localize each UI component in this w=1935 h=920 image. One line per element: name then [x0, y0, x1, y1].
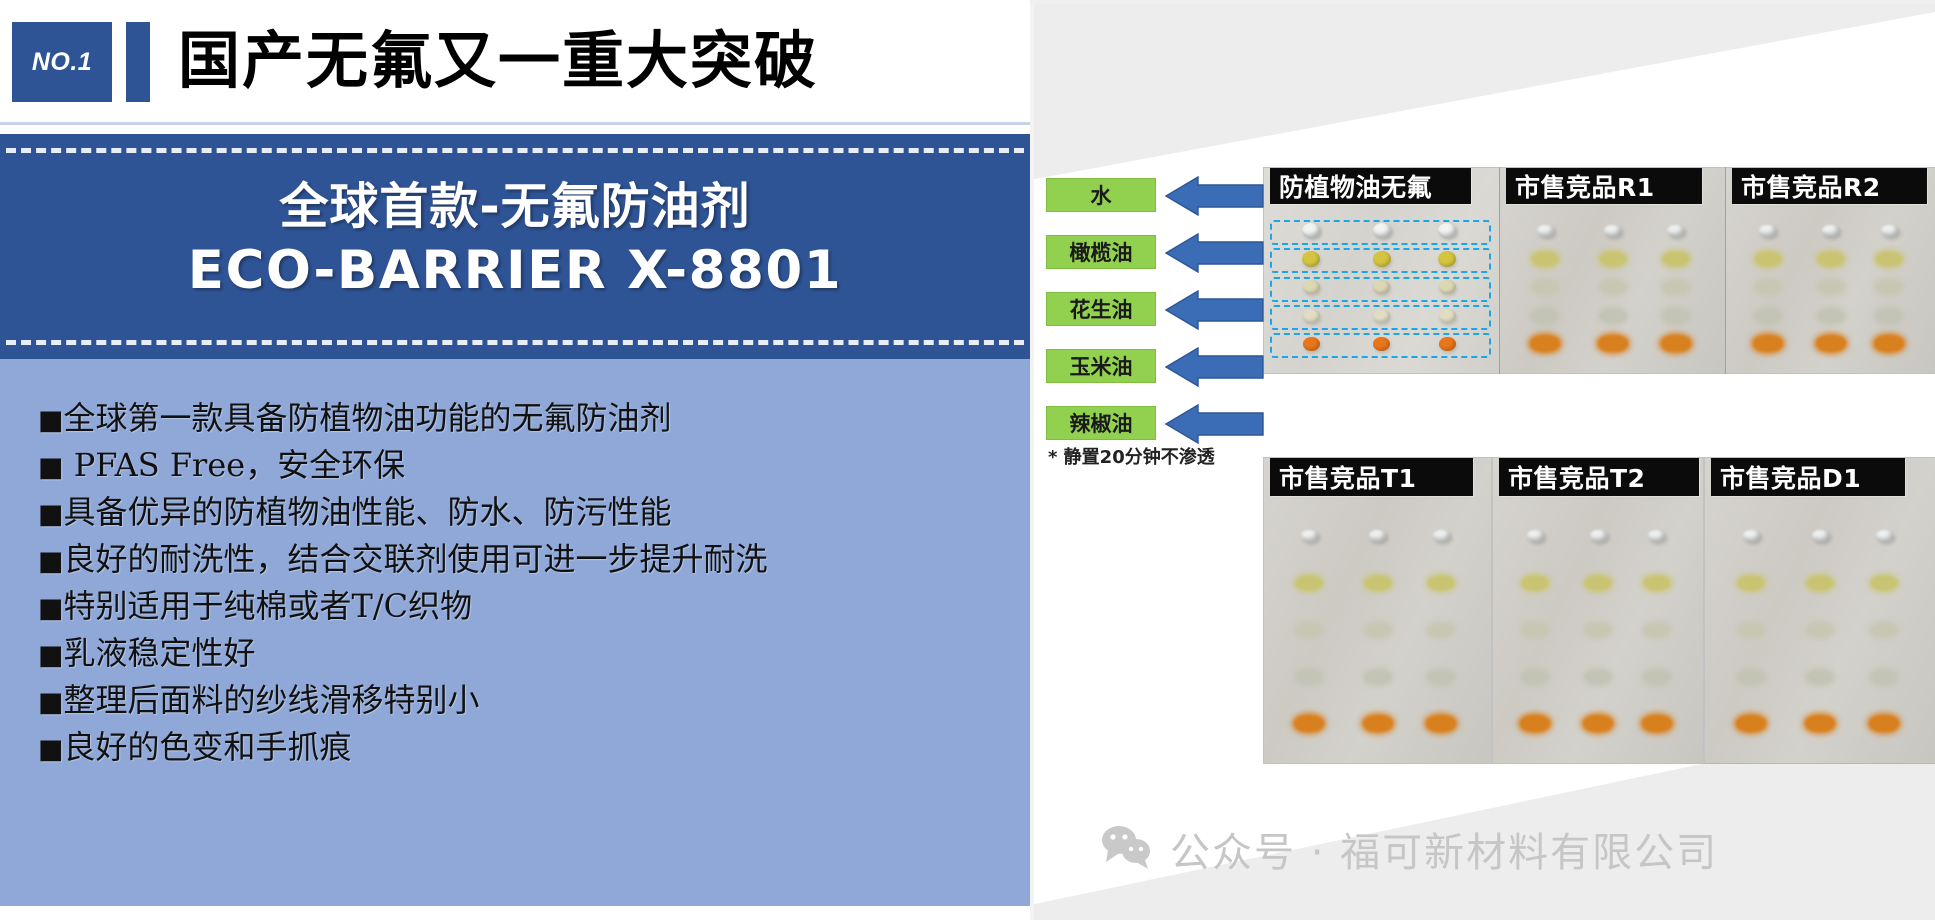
test-droplet — [1428, 670, 1454, 684]
test-droplet — [1373, 337, 1390, 351]
test-droplet — [1296, 623, 1322, 637]
test-droplet — [1807, 576, 1833, 590]
feature-bullet: ■具备优异的防植物油性能、防水、防污性能 — [38, 490, 998, 537]
test-droplet — [1818, 280, 1844, 294]
test-droplet — [1585, 670, 1611, 684]
test-droplet — [1876, 309, 1902, 323]
test-droplet — [1738, 576, 1764, 590]
test-droplet — [1426, 715, 1456, 732]
sample-photo-panel: 市售竞品R2 — [1726, 168, 1935, 373]
test-droplet — [1642, 715, 1672, 732]
test-droplet — [1663, 252, 1689, 266]
feature-bullet: ■ PFAS Free，安全环保 — [38, 443, 998, 490]
bullet-marker-icon: ■ — [38, 593, 64, 624]
test-droplet — [1755, 309, 1781, 323]
test-droplet — [1439, 309, 1456, 323]
feature-bullet-label: 良好的色变和手抓痕 — [64, 728, 352, 766]
test-droplet — [1816, 335, 1846, 352]
feature-bullet-label: PFAS Free，安全环保 — [64, 446, 406, 484]
test-droplet — [1644, 576, 1670, 590]
feature-bullet-label: 整理后面料的纱线滑移特别小 — [64, 681, 480, 719]
test-droplet — [1663, 280, 1689, 294]
wechat-icon — [1100, 824, 1154, 875]
feature-bullet: ■特别适用于纯棉或者T/C织物 — [38, 584, 998, 631]
test-droplet — [1818, 309, 1844, 323]
test-droplet — [1590, 530, 1607, 542]
test-droplet — [1294, 715, 1324, 732]
test-droplet — [1876, 530, 1893, 542]
test-liquid-row: 水 — [1046, 178, 1261, 235]
banner-dashed-top — [6, 148, 1024, 153]
test-droplet — [1520, 715, 1550, 732]
test-droplet — [1667, 225, 1684, 237]
test-droplet — [1869, 715, 1899, 732]
test-droplet — [1303, 309, 1320, 323]
header-accent-bar — [126, 22, 150, 102]
test-droplet — [1648, 530, 1665, 542]
test-liquid-row: 橄榄油 — [1046, 235, 1261, 292]
test-droplet — [1365, 670, 1391, 684]
test-droplet — [1428, 576, 1454, 590]
test-footnote: * 静置20分钟不渗透 — [1048, 443, 1215, 469]
feature-bullet-label: 具备优异的防植物油性能、防水、防污性能 — [64, 493, 672, 531]
slide-root: NO.1 国产无氟又一重大突破 全球首款-无氟防油剂 ECO-BARRIER X… — [0, 0, 1935, 920]
bullet-marker-icon: ■ — [38, 734, 64, 765]
left-arrow-icon — [1164, 404, 1264, 444]
test-droplet — [1644, 670, 1670, 684]
bullet-marker-icon: ■ — [38, 640, 64, 671]
test-droplet — [1600, 280, 1626, 294]
watermark: 公众号 · 福可新材料有限公司 — [1100, 820, 1718, 878]
left-arrow-icon — [1164, 347, 1264, 387]
test-droplet — [1537, 225, 1554, 237]
test-droplet — [1874, 335, 1904, 352]
bullet-marker-icon: ■ — [38, 546, 64, 577]
right-panel-left-edge — [1030, 0, 1034, 920]
test-droplet — [1585, 623, 1611, 637]
test-droplet — [1532, 252, 1558, 266]
test-droplet — [1522, 623, 1548, 637]
test-droplet — [1598, 335, 1628, 352]
feature-bullet-label: 良好的耐洗性，结合交联剂使用可进一步提升耐洗 — [64, 540, 768, 578]
sample-photo-panel: 市售竞品R1 — [1500, 168, 1725, 373]
feature-bullet-list: ■全球第一款具备防植物油功能的无氟防油剂■ PFAS Free，安全环保■具备优… — [38, 396, 998, 772]
test-droplet — [1755, 280, 1781, 294]
sample-photo-label: 市售竞品T2 — [1499, 458, 1699, 496]
sample-photo-panel: 市售竞品T2 — [1493, 458, 1703, 763]
banner-dashed-bottom — [6, 340, 1024, 345]
header-divider — [0, 122, 1030, 125]
test-droplet — [1663, 309, 1689, 323]
test-droplet — [1881, 225, 1898, 237]
test-droplet — [1373, 251, 1391, 267]
test-droplet — [1812, 530, 1829, 542]
watermark-text: 公众号 · 福可新材料有限公司 — [1170, 820, 1718, 878]
test-liquid-label: 橄榄油 — [1046, 235, 1156, 269]
test-droplet — [1600, 252, 1626, 266]
test-droplet — [1644, 623, 1670, 637]
test-droplet — [1303, 337, 1320, 351]
feature-bullet: ■良好的色变和手抓痕 — [38, 725, 998, 772]
test-droplet — [1365, 576, 1391, 590]
sample-photo-panel: 市售竞品D1 — [1705, 458, 1935, 763]
test-droplet — [1369, 530, 1386, 542]
test-droplet — [1583, 715, 1613, 732]
test-droplet — [1871, 576, 1897, 590]
test-droplet — [1736, 715, 1766, 732]
test-droplet — [1755, 252, 1781, 266]
test-liquid-label-column: 水橄榄油花生油玉米油辣椒油 — [1046, 178, 1261, 463]
test-droplet — [1532, 309, 1558, 323]
test-droplet — [1807, 623, 1833, 637]
slide-header: NO.1 国产无氟又一重大突破 — [0, 0, 1030, 124]
test-droplet — [1301, 530, 1318, 542]
test-droplet — [1365, 623, 1391, 637]
decorative-triangle-top — [1030, 0, 1935, 180]
left-column: NO.1 国产无氟又一重大突破 全球首款-无氟防油剂 ECO-BARRIER X… — [0, 0, 1030, 920]
test-droplet — [1296, 576, 1322, 590]
banner-text-group: 全球首款-无氟防油剂 ECO-BARRIER X-8801 — [0, 176, 1030, 304]
test-droplet — [1522, 670, 1548, 684]
test-droplet — [1433, 530, 1450, 542]
test-droplet — [1807, 670, 1833, 684]
feature-bullet: ■整理后面料的纱线滑移特别小 — [38, 678, 998, 725]
test-droplet — [1600, 309, 1626, 323]
test-droplet — [1743, 530, 1760, 542]
feature-bullet: ■良好的耐洗性，结合交联剂使用可进一步提升耐洗 — [38, 537, 998, 584]
test-droplet — [1759, 225, 1776, 237]
test-liquid-label: 水 — [1046, 178, 1156, 212]
test-droplet — [1753, 335, 1783, 352]
left-arrow-icon — [1164, 233, 1264, 273]
sample-photo-panel: 市售竞品T1 — [1264, 458, 1491, 763]
test-droplet — [1303, 280, 1320, 294]
test-droplet — [1661, 335, 1691, 352]
sample-photo-panel: 防植物油无氟 — [1264, 168, 1499, 373]
bullet-marker-icon: ■ — [38, 687, 64, 718]
test-droplet — [1738, 670, 1764, 684]
bullet-marker-icon: ■ — [38, 452, 64, 483]
banner-product-name: ECO-BARRIER X-8801 — [0, 238, 1030, 304]
test-droplet — [1585, 576, 1611, 590]
right-panel-top-edge — [1030, 0, 1935, 4]
test-droplet — [1373, 309, 1390, 323]
sample-photo-label: 市售竞品T1 — [1270, 458, 1473, 496]
test-droplet — [1822, 225, 1839, 237]
feature-bullet-label: 全球第一款具备防植物油功能的无氟防油剂 — [64, 399, 672, 437]
sample-photo-label: 市售竞品R2 — [1732, 168, 1927, 204]
test-liquid-row: 玉米油 — [1046, 349, 1261, 406]
test-droplet — [1532, 280, 1558, 294]
test-droplet — [1871, 670, 1897, 684]
page-title: 国产无氟又一重大突破 — [178, 18, 818, 104]
test-liquid-row: 花生油 — [1046, 292, 1261, 349]
feature-panel-bottom-rule — [0, 906, 1030, 913]
test-droplet — [1604, 225, 1621, 237]
test-droplet — [1876, 280, 1902, 294]
test-droplet — [1805, 715, 1835, 732]
number-badge: NO.1 — [12, 22, 112, 102]
test-droplet — [1363, 715, 1393, 732]
test-droplet — [1373, 223, 1391, 238]
sample-photo-label: 防植物油无氟 — [1270, 168, 1471, 204]
feature-bullet: ■乳液稳定性好 — [38, 631, 998, 678]
test-droplet — [1530, 335, 1560, 352]
banner-subtitle: 全球首款-无氟防油剂 — [0, 176, 1030, 238]
bullet-marker-icon: ■ — [38, 499, 64, 530]
test-liquid-label: 辣椒油 — [1046, 406, 1156, 440]
sample-photo-label: 市售竞品D1 — [1711, 458, 1905, 496]
feature-bullet-label: 乳液稳定性好 — [64, 634, 256, 672]
left-arrow-icon — [1164, 176, 1264, 216]
test-droplet — [1738, 623, 1764, 637]
feature-bullet: ■全球第一款具备防植物油功能的无氟防油剂 — [38, 396, 998, 443]
test-liquid-label: 花生油 — [1046, 292, 1156, 326]
bullet-marker-icon: ■ — [38, 405, 64, 436]
test-droplet — [1296, 670, 1322, 684]
test-droplet — [1527, 530, 1544, 542]
test-droplet — [1439, 337, 1456, 351]
feature-panel: ■全球第一款具备防植物油功能的无氟防油剂■ PFAS Free，安全环保■具备优… — [0, 359, 1030, 913]
feature-bullet-label: 特别适用于纯棉或者T/C织物 — [64, 587, 473, 625]
left-arrow-icon — [1164, 290, 1264, 330]
test-droplet — [1818, 252, 1844, 266]
test-droplet — [1871, 623, 1897, 637]
test-droplet — [1522, 576, 1548, 590]
test-droplet — [1428, 623, 1454, 637]
product-banner: 全球首款-无氟防油剂 ECO-BARRIER X-8801 — [0, 134, 1030, 359]
sample-photo-label: 市售竞品R1 — [1506, 168, 1702, 204]
test-droplet — [1876, 252, 1902, 266]
test-liquid-label: 玉米油 — [1046, 349, 1156, 383]
